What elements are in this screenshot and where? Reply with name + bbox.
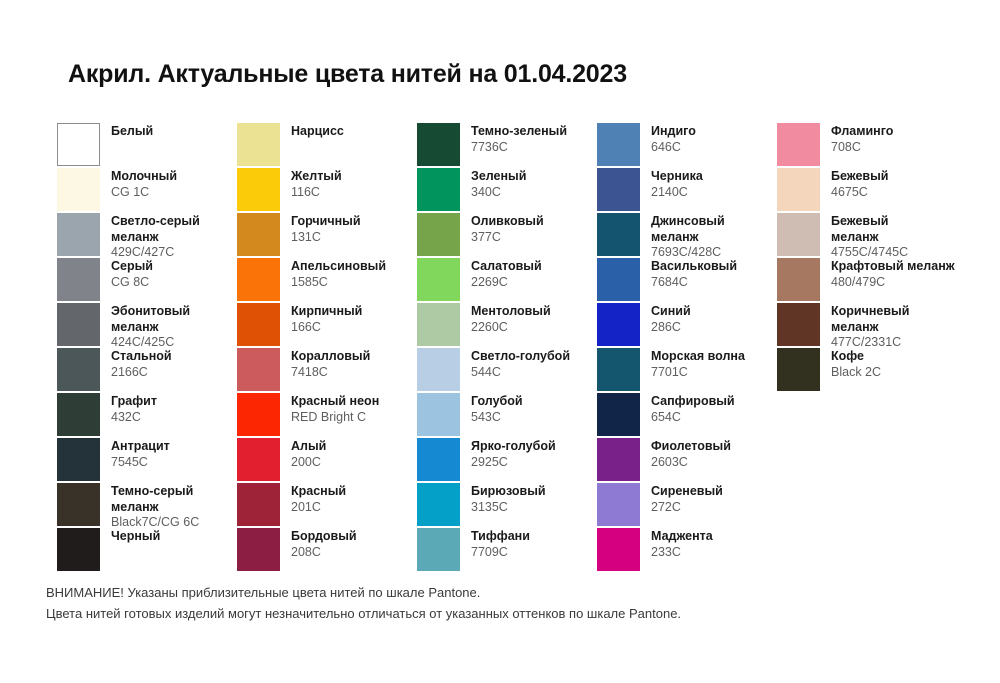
swatch-text: Алый200C: [280, 438, 326, 470]
swatch-name: Темно-серый меланж: [111, 484, 199, 515]
swatch-text: Кирпичный166C: [280, 303, 362, 335]
swatch-row[interactable]: Графит432C: [57, 393, 237, 438]
color-chip[interactable]: [417, 168, 460, 211]
swatch-name: Бежевый меланж: [831, 214, 908, 245]
swatch-grid: БелыйМолочныйCG 1CСветло-серый меланж429…: [57, 123, 957, 573]
swatch-pantone-code: 7545C: [111, 455, 170, 471]
swatch-row[interactable]: Черный: [57, 528, 237, 573]
swatch-name: Васильковый: [651, 259, 737, 275]
swatch-row[interactable]: Зеленый340C: [417, 168, 597, 213]
swatch-row[interactable]: Темно-зеленый7736C: [417, 123, 597, 168]
swatch-name: Голубой: [471, 394, 523, 410]
swatch-pantone-code: 2269C: [471, 275, 542, 291]
swatch-name: Графит: [111, 394, 157, 410]
swatch-text: Зеленый340C: [460, 168, 526, 200]
swatch-column-2: НарциссЖелтый116CГорчичный131CАпельсинов…: [237, 123, 417, 573]
color-chip[interactable]: [237, 438, 280, 481]
swatch-text: Сиреневый272C: [640, 483, 723, 515]
color-chip[interactable]: [417, 483, 460, 526]
swatch-pantone-code: 7701C: [651, 365, 745, 381]
swatch-pantone-code: 272C: [651, 500, 723, 516]
swatch-text: Сапфировый654C: [640, 393, 735, 425]
swatch-text: Синий286C: [640, 303, 691, 335]
swatch-text: Бирюзовый3135C: [460, 483, 546, 515]
swatch-row[interactable]: Сиреневый272C: [597, 483, 777, 528]
swatch-text: Желтый116C: [280, 168, 342, 200]
swatch-pantone-code: 4675C: [831, 185, 888, 201]
color-chip[interactable]: [597, 213, 640, 256]
swatch-name: Черника: [651, 169, 703, 185]
swatch-text: Салатовый2269C: [460, 258, 542, 290]
swatch-pantone-code: 340C: [471, 185, 526, 201]
swatch-pantone-code: 2166C: [111, 365, 172, 381]
swatch-row[interactable]: Желтый116C: [237, 168, 417, 213]
swatch-row[interactable]: Синий286C: [597, 303, 777, 348]
swatch-text: МолочныйCG 1C: [100, 168, 177, 200]
swatch-row[interactable]: Салатовый2269C: [417, 258, 597, 303]
swatch-row[interactable]: Коричневый меланж477C/2331C: [777, 303, 957, 348]
swatch-pantone-code: 2925C: [471, 455, 556, 471]
swatch-name: Светло-серый меланж: [111, 214, 200, 245]
color-chip[interactable]: [237, 483, 280, 526]
swatch-row[interactable]: Коралловый7418C: [237, 348, 417, 393]
color-chip[interactable]: [237, 123, 280, 166]
swatch-pantone-code: 2603C: [651, 455, 731, 471]
swatch-name: Оливковый: [471, 214, 544, 230]
color-chip[interactable]: [777, 258, 820, 301]
swatch-name: Бирюзовый: [471, 484, 546, 500]
swatch-text: Черника2140C: [640, 168, 703, 200]
swatch-column-5: Фламинго708CБежевый4675CБежевый меланж47…: [777, 123, 957, 573]
swatch-pantone-code: 7684C: [651, 275, 737, 291]
color-chip[interactable]: [597, 168, 640, 211]
swatch-row[interactable]: Светло-серый меланж429C/427C: [57, 213, 237, 258]
color-chip[interactable]: [777, 168, 820, 211]
color-chip[interactable]: [777, 123, 820, 166]
swatch-text: Стальной2166C: [100, 348, 172, 380]
swatch-text: Черный: [100, 528, 160, 545]
swatch-name: Светло-голубой: [471, 349, 570, 365]
swatch-text: Маджента233C: [640, 528, 713, 560]
color-chip[interactable]: [417, 123, 460, 166]
color-chip[interactable]: [597, 393, 640, 436]
color-chip[interactable]: [777, 303, 820, 346]
swatch-name: Фламинго: [831, 124, 893, 140]
swatch-row[interactable]: Тиффани7709C: [417, 528, 597, 573]
swatch-name: Бордовый: [291, 529, 357, 545]
swatch-row[interactable]: Светло-голубой544C: [417, 348, 597, 393]
swatch-row[interactable]: Белый: [57, 123, 237, 168]
color-chip[interactable]: [417, 438, 460, 481]
swatch-name: Индиго: [651, 124, 696, 140]
swatch-name: Нарцисс: [291, 124, 344, 140]
swatch-pantone-code: 201C: [291, 500, 346, 516]
color-chip[interactable]: [57, 213, 100, 256]
swatch-text: Голубой543C: [460, 393, 523, 425]
swatch-name: Ментоловый: [471, 304, 551, 320]
swatch-column-3: Темно-зеленый7736CЗеленый340CОливковый37…: [417, 123, 597, 573]
color-chip[interactable]: [57, 258, 100, 301]
swatch-pantone-code: 131C: [291, 230, 361, 246]
color-chip[interactable]: [57, 438, 100, 481]
swatch-name: Коралловый: [291, 349, 370, 365]
swatch-name: Стальной: [111, 349, 172, 365]
color-chip[interactable]: [237, 303, 280, 346]
swatch-row[interactable]: Апельсиновый1585C: [237, 258, 417, 303]
swatch-name: Антрацит: [111, 439, 170, 455]
swatch-text: Красный неонRED Bright C: [280, 393, 379, 425]
swatch-text: Индиго646C: [640, 123, 696, 155]
swatch-text: Белый: [100, 123, 153, 140]
swatch-pantone-code: 2140C: [651, 185, 703, 201]
swatch-name: Кофе: [831, 349, 881, 365]
color-chip[interactable]: [417, 303, 460, 346]
swatch-pantone-code: Black 2C: [831, 365, 881, 381]
swatch-row[interactable]: Морская волна7701C: [597, 348, 777, 393]
swatch-text: КофеBlack 2C: [820, 348, 881, 380]
swatch-text: Красный201C: [280, 483, 346, 515]
color-chip[interactable]: [777, 348, 820, 391]
swatch-row[interactable]: Эбонитовый меланж424C/425C: [57, 303, 237, 348]
swatch-text: Фламинго708C: [820, 123, 893, 155]
swatch-row[interactable]: МолочныйCG 1C: [57, 168, 237, 213]
swatch-row[interactable]: Оливковый377C: [417, 213, 597, 258]
swatch-pantone-code: 166C: [291, 320, 362, 336]
swatch-column-4: Индиго646CЧерника2140CДжинсовый меланж76…: [597, 123, 777, 573]
swatch-name: Ярко-голубой: [471, 439, 556, 455]
color-chip[interactable]: [57, 303, 100, 346]
swatch-text: Васильковый7684C: [640, 258, 737, 290]
color-chip[interactable]: [57, 483, 100, 526]
swatch-row[interactable]: Бордовый208C: [237, 528, 417, 573]
swatch-name: Бежевый: [831, 169, 888, 185]
swatch-row[interactable]: Голубой543C: [417, 393, 597, 438]
swatch-text: Нарцисс: [280, 123, 344, 140]
swatch-name: Тиффани: [471, 529, 530, 545]
swatch-pantone-code: 233C: [651, 545, 713, 561]
swatch-row[interactable]: Крафтовый меланж480/479C: [777, 258, 957, 303]
swatch-pantone-code: 7418C: [291, 365, 370, 381]
color-chip[interactable]: [237, 258, 280, 301]
swatch-pantone-code: 286C: [651, 320, 691, 336]
color-chip[interactable]: [417, 258, 460, 301]
color-chip[interactable]: [417, 348, 460, 391]
swatch-text: Коралловый7418C: [280, 348, 370, 380]
page-title: Акрил. Актуальные цвета нитей на 01.04.2…: [68, 60, 627, 89]
swatch-pantone-code: 7709C: [471, 545, 530, 561]
color-chip[interactable]: [597, 438, 640, 481]
color-chip[interactable]: [237, 168, 280, 211]
swatch-pantone-code: 377C: [471, 230, 544, 246]
swatch-name: Горчичный: [291, 214, 361, 230]
swatch-name: Молочный: [111, 169, 177, 185]
color-chip[interactable]: [237, 348, 280, 391]
swatch-row[interactable]: Стальной2166C: [57, 348, 237, 393]
swatch-text: Эбонитовый меланж424C/425C: [100, 303, 190, 351]
swatch-pantone-code: 116C: [291, 185, 342, 201]
swatch-text: Графит432C: [100, 393, 157, 425]
swatch-name: Крафтовый меланж: [831, 259, 955, 275]
swatch-row[interactable]: Ярко-голубой2925C: [417, 438, 597, 483]
footer-line-1: ВНИМАНИЕ! Указаны приблизительные цвета …: [46, 582, 681, 603]
swatch-name: Морская волна: [651, 349, 745, 365]
swatch-row[interactable]: Кирпичный166C: [237, 303, 417, 348]
footer-line-2: Цвета нитей готовых изделий могут незнач…: [46, 603, 681, 624]
swatch-name: Джинсовый меланж: [651, 214, 725, 245]
swatch-pantone-code: 200C: [291, 455, 326, 471]
color-chip[interactable]: [417, 528, 460, 571]
color-chip[interactable]: [597, 348, 640, 391]
swatch-text: Бежевый меланж4755C/4745C: [820, 213, 908, 261]
swatch-row[interactable]: Алый200C: [237, 438, 417, 483]
swatch-name: Коричневый меланж: [831, 304, 909, 335]
swatch-name: Белый: [111, 124, 153, 140]
swatch-text: Антрацит7545C: [100, 438, 170, 470]
swatch-row[interactable]: Индиго646C: [597, 123, 777, 168]
color-chip[interactable]: [57, 168, 100, 211]
swatch-row[interactable]: Сапфировый654C: [597, 393, 777, 438]
color-chip[interactable]: [237, 393, 280, 436]
swatch-pantone-code: 7736C: [471, 140, 567, 156]
swatch-text: Светло-серый меланж429C/427C: [100, 213, 200, 261]
swatch-name: Черный: [111, 529, 160, 545]
swatch-row[interactable]: СерыйCG 8C: [57, 258, 237, 303]
color-chip[interactable]: [417, 213, 460, 256]
swatch-text: Ярко-голубой2925C: [460, 438, 556, 470]
footer-note: ВНИМАНИЕ! Указаны приблизительные цвета …: [46, 582, 681, 624]
swatch-row[interactable]: Бежевый меланж4755C/4745C: [777, 213, 957, 258]
color-chip[interactable]: [237, 213, 280, 256]
swatch-name: Сапфировый: [651, 394, 735, 410]
color-chip[interactable]: [417, 393, 460, 436]
swatch-text: Апельсиновый1585C: [280, 258, 386, 290]
swatch-text: Ментоловый2260C: [460, 303, 551, 335]
swatch-text: Фиолетовый2603C: [640, 438, 731, 470]
swatch-pantone-code: 432C: [111, 410, 157, 426]
swatch-name: Салатовый: [471, 259, 542, 275]
swatch-text: Тиффани7709C: [460, 528, 530, 560]
swatch-row[interactable]: КофеBlack 2C: [777, 348, 957, 393]
swatch-pantone-code: CG 8C: [111, 275, 153, 291]
swatch-pantone-code: CG 1C: [111, 185, 177, 201]
color-chip[interactable]: [57, 528, 100, 571]
color-chip[interactable]: [597, 258, 640, 301]
swatch-row[interactable]: Красный неонRED Bright C: [237, 393, 417, 438]
swatch-pantone-code: 654C: [651, 410, 735, 426]
swatch-text: Коричневый меланж477C/2331C: [820, 303, 909, 351]
swatch-text: Морская волна7701C: [640, 348, 745, 380]
swatch-pantone-code: RED Bright C: [291, 410, 379, 426]
swatch-column-1: БелыйМолочныйCG 1CСветло-серый меланж429…: [57, 123, 237, 573]
color-chip[interactable]: [57, 123, 100, 166]
swatch-name: Желтый: [291, 169, 342, 185]
swatch-text: Темно-зеленый7736C: [460, 123, 567, 155]
swatch-name: Красный: [291, 484, 346, 500]
color-chip[interactable]: [597, 123, 640, 166]
swatch-pantone-code: 544C: [471, 365, 570, 381]
swatch-row[interactable]: Джинсовый меланж7693C/428C: [597, 213, 777, 258]
color-chip[interactable]: [57, 348, 100, 391]
color-chip[interactable]: [777, 213, 820, 256]
swatch-row[interactable]: Бежевый4675C: [777, 168, 957, 213]
swatch-pantone-code: 208C: [291, 545, 357, 561]
swatch-text: Крафтовый меланж480/479C: [820, 258, 955, 290]
swatch-name: Красный неон: [291, 394, 379, 410]
swatch-name: Эбонитовый меланж: [111, 304, 190, 335]
color-chart-page: Акрил. Актуальные цвета нитей на 01.04.2…: [0, 0, 1000, 683]
swatch-text: Джинсовый меланж7693C/428C: [640, 213, 725, 261]
swatch-row[interactable]: Антрацит7545C: [57, 438, 237, 483]
swatch-pantone-code: 480/479C: [831, 275, 955, 291]
color-chip[interactable]: [237, 528, 280, 571]
swatch-text: СерыйCG 8C: [100, 258, 153, 290]
swatch-name: Зеленый: [471, 169, 526, 185]
swatch-row[interactable]: Бирюзовый3135C: [417, 483, 597, 528]
swatch-row[interactable]: Черника2140C: [597, 168, 777, 213]
swatch-pantone-code: 543C: [471, 410, 523, 426]
swatch-row[interactable]: Нарцисс: [237, 123, 417, 168]
swatch-row[interactable]: Красный201C: [237, 483, 417, 528]
swatch-text: Бежевый4675C: [820, 168, 888, 200]
swatch-text: Горчичный131C: [280, 213, 361, 245]
swatch-name: Апельсиновый: [291, 259, 386, 275]
swatch-name: Кирпичный: [291, 304, 362, 320]
swatch-row[interactable]: Темно-серый меланжBlack7C/CG 6C: [57, 483, 237, 528]
swatch-row[interactable]: Васильковый7684C: [597, 258, 777, 303]
swatch-pantone-code: 2260C: [471, 320, 551, 336]
swatch-text: Светло-голубой544C: [460, 348, 570, 380]
swatch-name: Фиолетовый: [651, 439, 731, 455]
color-chip[interactable]: [597, 528, 640, 571]
swatch-text: Бордовый208C: [280, 528, 357, 560]
color-chip[interactable]: [597, 483, 640, 526]
swatch-text: Темно-серый меланжBlack7C/CG 6C: [100, 483, 199, 531]
swatch-pantone-code: 708C: [831, 140, 893, 156]
swatch-pantone-code: 1585C: [291, 275, 386, 291]
swatch-name: Синий: [651, 304, 691, 320]
swatch-row[interactable]: Ментоловый2260C: [417, 303, 597, 348]
swatch-row[interactable]: Фламинго708C: [777, 123, 957, 168]
swatch-name: Сиреневый: [651, 484, 723, 500]
swatch-pantone-code: 646C: [651, 140, 696, 156]
swatch-name: Темно-зеленый: [471, 124, 567, 140]
swatch-pantone-code: 3135C: [471, 500, 546, 516]
swatch-text: Оливковый377C: [460, 213, 544, 245]
swatch-row[interactable]: Горчичный131C: [237, 213, 417, 258]
color-chip[interactable]: [57, 393, 100, 436]
swatch-name: Серый: [111, 259, 153, 275]
color-chip[interactable]: [597, 303, 640, 346]
swatch-row[interactable]: Фиолетовый2603C: [597, 438, 777, 483]
swatch-name: Алый: [291, 439, 326, 455]
swatch-name: Маджента: [651, 529, 713, 545]
swatch-row[interactable]: Маджента233C: [597, 528, 777, 573]
